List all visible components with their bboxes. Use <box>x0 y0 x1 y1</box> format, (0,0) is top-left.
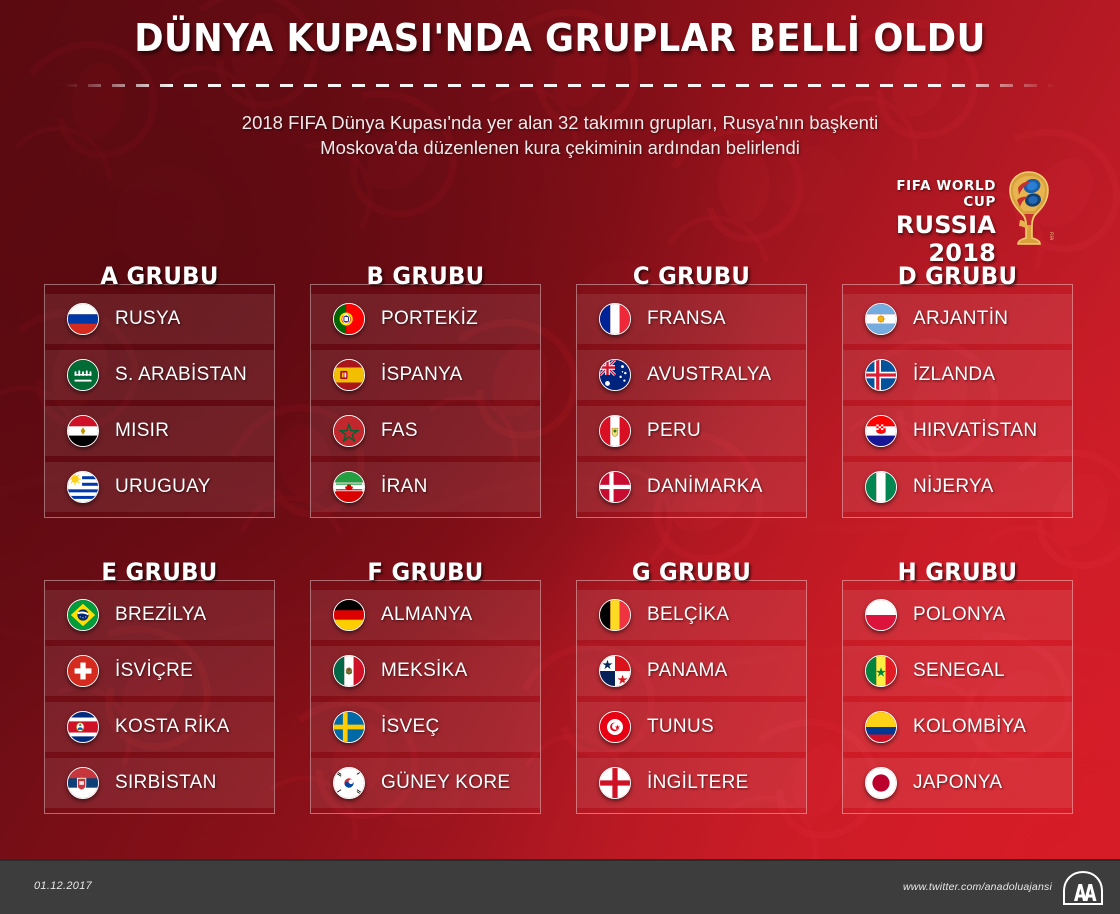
flag-russia <box>67 303 99 335</box>
team-name: ARJANTİN <box>913 308 1008 330</box>
group-title: D GRUBU <box>848 262 1067 290</box>
flag-iran <box>333 471 365 503</box>
team-name: İRAN <box>381 476 428 498</box>
team-row[interactable]: ARJANTİN <box>843 294 1072 344</box>
group-title: C GRUBU <box>582 262 801 290</box>
flag-morocco <box>333 415 365 447</box>
team-list: BREZİLYAİSVİÇREKOSTA RİKASIRBİSTAN <box>45 590 274 808</box>
flag-poland <box>865 599 897 631</box>
fifa-logo-line-1: FIFA WORLD CUP <box>872 178 996 210</box>
aa-logo <box>1062 871 1104 905</box>
flag-australia <box>599 359 631 391</box>
team-row[interactable]: MEKSİKA <box>311 646 540 696</box>
team-name: DANİMARKA <box>647 476 763 498</box>
team-row[interactable]: PORTEKİZ <box>311 294 540 344</box>
team-list: RUSYAS. ARABİSTANMISIRURUGUAY <box>45 294 274 512</box>
flag-nigeria <box>865 471 897 503</box>
footer-twitter-link[interactable]: www.twitter.com/anadoluajansi <box>903 881 1052 893</box>
team-name: JAPONYA <box>913 772 1002 794</box>
group-title: H GRUBU <box>848 558 1067 586</box>
group-title: G GRUBU <box>582 558 801 586</box>
team-list: FRANSAAVUSTRALYAPERUDANİMARKA <box>577 294 806 512</box>
team-name: MEKSİKA <box>381 660 468 682</box>
team-row[interactable]: URUGUAY <box>45 462 274 512</box>
team-row[interactable]: ALMANYA <box>311 590 540 640</box>
flag-croatia <box>865 415 897 447</box>
team-row[interactable]: BELÇİKA <box>577 590 806 640</box>
flag-switzerland <box>67 655 99 687</box>
team-name: İZLANDA <box>913 364 995 386</box>
svg-text:FIFA: FIFA <box>1049 232 1054 240</box>
fifa-logo-line-2: RUSSIA 2018 <box>872 211 996 267</box>
header: DÜNYA KUPASI'NDA GRUPLAR BELLİ OLDU 2018… <box>0 0 1120 175</box>
team-name: İSVİÇRE <box>115 660 193 682</box>
team-name: İSPANYA <box>381 364 463 386</box>
team-name: PORTEKİZ <box>381 308 478 330</box>
team-name: S. ARABİSTAN <box>115 364 247 386</box>
team-name: FAS <box>381 420 418 442</box>
flag-senegal <box>865 655 897 687</box>
team-row[interactable]: SENEGAL <box>843 646 1072 696</box>
team-name: İSVEÇ <box>381 716 440 738</box>
flag-tunisia <box>599 711 631 743</box>
team-row[interactable]: İZLANDA <box>843 350 1072 400</box>
group-panel-b: B GRUBUPORTEKİZİSPANYAFASİRAN <box>310 262 541 520</box>
flag-south-korea <box>333 767 365 799</box>
flag-france <box>599 303 631 335</box>
flag-sweden <box>333 711 365 743</box>
team-row[interactable]: SIRBİSTAN <box>45 758 274 808</box>
team-row[interactable]: DANİMARKA <box>577 462 806 512</box>
team-row[interactable]: PERU <box>577 406 806 456</box>
team-row[interactable]: KOSTA RİKA <box>45 702 274 752</box>
team-row[interactable]: PANAMA <box>577 646 806 696</box>
team-list: PORTEKİZİSPANYAFASİRAN <box>311 294 540 512</box>
subtitle-line-2: Moskova'da düzenlenen kura çekiminin ard… <box>0 135 1120 160</box>
team-row[interactable]: POLONYA <box>843 590 1072 640</box>
page-title: DÜNYA KUPASI'NDA GRUPLAR BELLİ OLDU <box>39 16 1081 60</box>
group-panel-d: D GRUBUARJANTİNİZLANDAHIRVATİSTANNİJERYA <box>842 262 1073 520</box>
flag-saudi-arabia <box>67 359 99 391</box>
flag-egypt <box>67 415 99 447</box>
team-row[interactable]: FRANSA <box>577 294 806 344</box>
team-list: ARJANTİNİZLANDAHIRVATİSTANNİJERYA <box>843 294 1072 512</box>
team-list: BELÇİKAPANAMATUNUSİNGİLTERE <box>577 590 806 808</box>
group-panel-h: H GRUBUPOLONYASENEGALKOLOMBİYAJAPONYA <box>842 558 1073 816</box>
flag-japan <box>865 767 897 799</box>
footer-date: 01.12.2017 <box>34 880 92 892</box>
team-name: SIRBİSTAN <box>115 772 217 794</box>
team-name: POLONYA <box>913 604 1006 626</box>
group-panel-g: G GRUBUBELÇİKAPANAMATUNUSİNGİLTERE <box>576 558 807 816</box>
team-name: BELÇİKA <box>647 604 729 626</box>
team-row[interactable]: NİJERYA <box>843 462 1072 512</box>
fifa-world-cup-logo: FIFA WORLD CUP RUSSIA 2018 FIFA <box>872 170 1056 248</box>
subtitle: 2018 FIFA Dünya Kupası'nda yer alan 32 t… <box>0 110 1120 160</box>
groups-grid: A GRUBURUSYAS. ARABİSTANMISIRURUGUAYB GR… <box>0 262 1120 832</box>
flag-iceland <box>865 359 897 391</box>
dashed-divider <box>64 84 1056 87</box>
group-panel-e: E GRUBUBREZİLYAİSVİÇREKOSTA RİKASIRBİSTA… <box>44 558 275 816</box>
team-name: SENEGAL <box>913 660 1005 682</box>
flag-mexico <box>333 655 365 687</box>
group-title: E GRUBU <box>50 558 269 586</box>
team-row[interactable]: MISIR <box>45 406 274 456</box>
team-name: PERU <box>647 420 701 442</box>
flag-peru <box>599 415 631 447</box>
flag-brazil <box>67 599 99 631</box>
flag-germany <box>333 599 365 631</box>
team-name: AVUSTRALYA <box>647 364 771 386</box>
team-name: RUSYA <box>115 308 181 330</box>
group-panel-f: F GRUBUALMANYAMEKSİKAİSVEÇGÜNEY KORE <box>310 558 541 816</box>
flag-argentina <box>865 303 897 335</box>
team-row[interactable]: İSVEÇ <box>311 702 540 752</box>
team-row[interactable]: JAPONYA <box>843 758 1072 808</box>
group-title: B GRUBU <box>316 262 535 290</box>
team-list: ALMANYAMEKSİKAİSVEÇGÜNEY KORE <box>311 590 540 808</box>
team-name: FRANSA <box>647 308 726 330</box>
team-row[interactable]: RUSYA <box>45 294 274 344</box>
flag-uruguay <box>67 471 99 503</box>
team-row[interactable]: TUNUS <box>577 702 806 752</box>
team-row[interactable]: İNGİLTERE <box>577 758 806 808</box>
team-name: KOLOMBİYA <box>913 716 1026 738</box>
team-name: HIRVATİSTAN <box>913 420 1037 442</box>
flag-denmark <box>599 471 631 503</box>
flag-england <box>599 767 631 799</box>
team-list: POLONYASENEGALKOLOMBİYAJAPONYA <box>843 590 1072 808</box>
team-row[interactable]: İSPANYA <box>311 350 540 400</box>
team-row[interactable]: GÜNEY KORE <box>311 758 540 808</box>
flag-costa-rica <box>67 711 99 743</box>
flag-colombia <box>865 711 897 743</box>
group-panel-c: C GRUBUFRANSAAVUSTRALYAPERUDANİMARKA <box>576 262 807 520</box>
team-row[interactable]: BREZİLYA <box>45 590 274 640</box>
team-row[interactable]: İRAN <box>311 462 540 512</box>
team-row[interactable]: KOLOMBİYA <box>843 702 1072 752</box>
team-name: NİJERYA <box>913 476 994 498</box>
fifa-logo-text: FIFA WORLD CUP RUSSIA 2018 <box>872 178 996 267</box>
flag-panama <box>599 655 631 687</box>
team-name: BREZİLYA <box>115 604 206 626</box>
subtitle-line-1: 2018 FIFA Dünya Kupası'nda yer alan 32 t… <box>0 110 1120 135</box>
team-name: GÜNEY KORE <box>381 772 510 794</box>
team-name: TUNUS <box>647 716 714 738</box>
world-cup-trophy-icon: FIFA <box>1002 170 1056 248</box>
team-name: KOSTA RİKA <box>115 716 230 738</box>
team-row[interactable]: S. ARABİSTAN <box>45 350 274 400</box>
team-row[interactable]: İSVİÇRE <box>45 646 274 696</box>
team-name: ALMANYA <box>381 604 473 626</box>
flag-spain <box>333 359 365 391</box>
group-title: A GRUBU <box>50 262 269 290</box>
team-row[interactable]: FAS <box>311 406 540 456</box>
team-row[interactable]: AVUSTRALYA <box>577 350 806 400</box>
team-name: URUGUAY <box>115 476 211 498</box>
group-title: F GRUBU <box>316 558 535 586</box>
team-row[interactable]: HIRVATİSTAN <box>843 406 1072 456</box>
team-name: MISIR <box>115 420 169 442</box>
footer: 01.12.2017 www.twitter.com/anadoluajansi <box>0 859 1120 914</box>
group-panel-a: A GRUBURUSYAS. ARABİSTANMISIRURUGUAY <box>44 262 275 520</box>
team-name: İNGİLTERE <box>647 772 749 794</box>
team-name: PANAMA <box>647 660 728 682</box>
flag-serbia <box>67 767 99 799</box>
flag-portugal <box>333 303 365 335</box>
flag-belgium <box>599 599 631 631</box>
